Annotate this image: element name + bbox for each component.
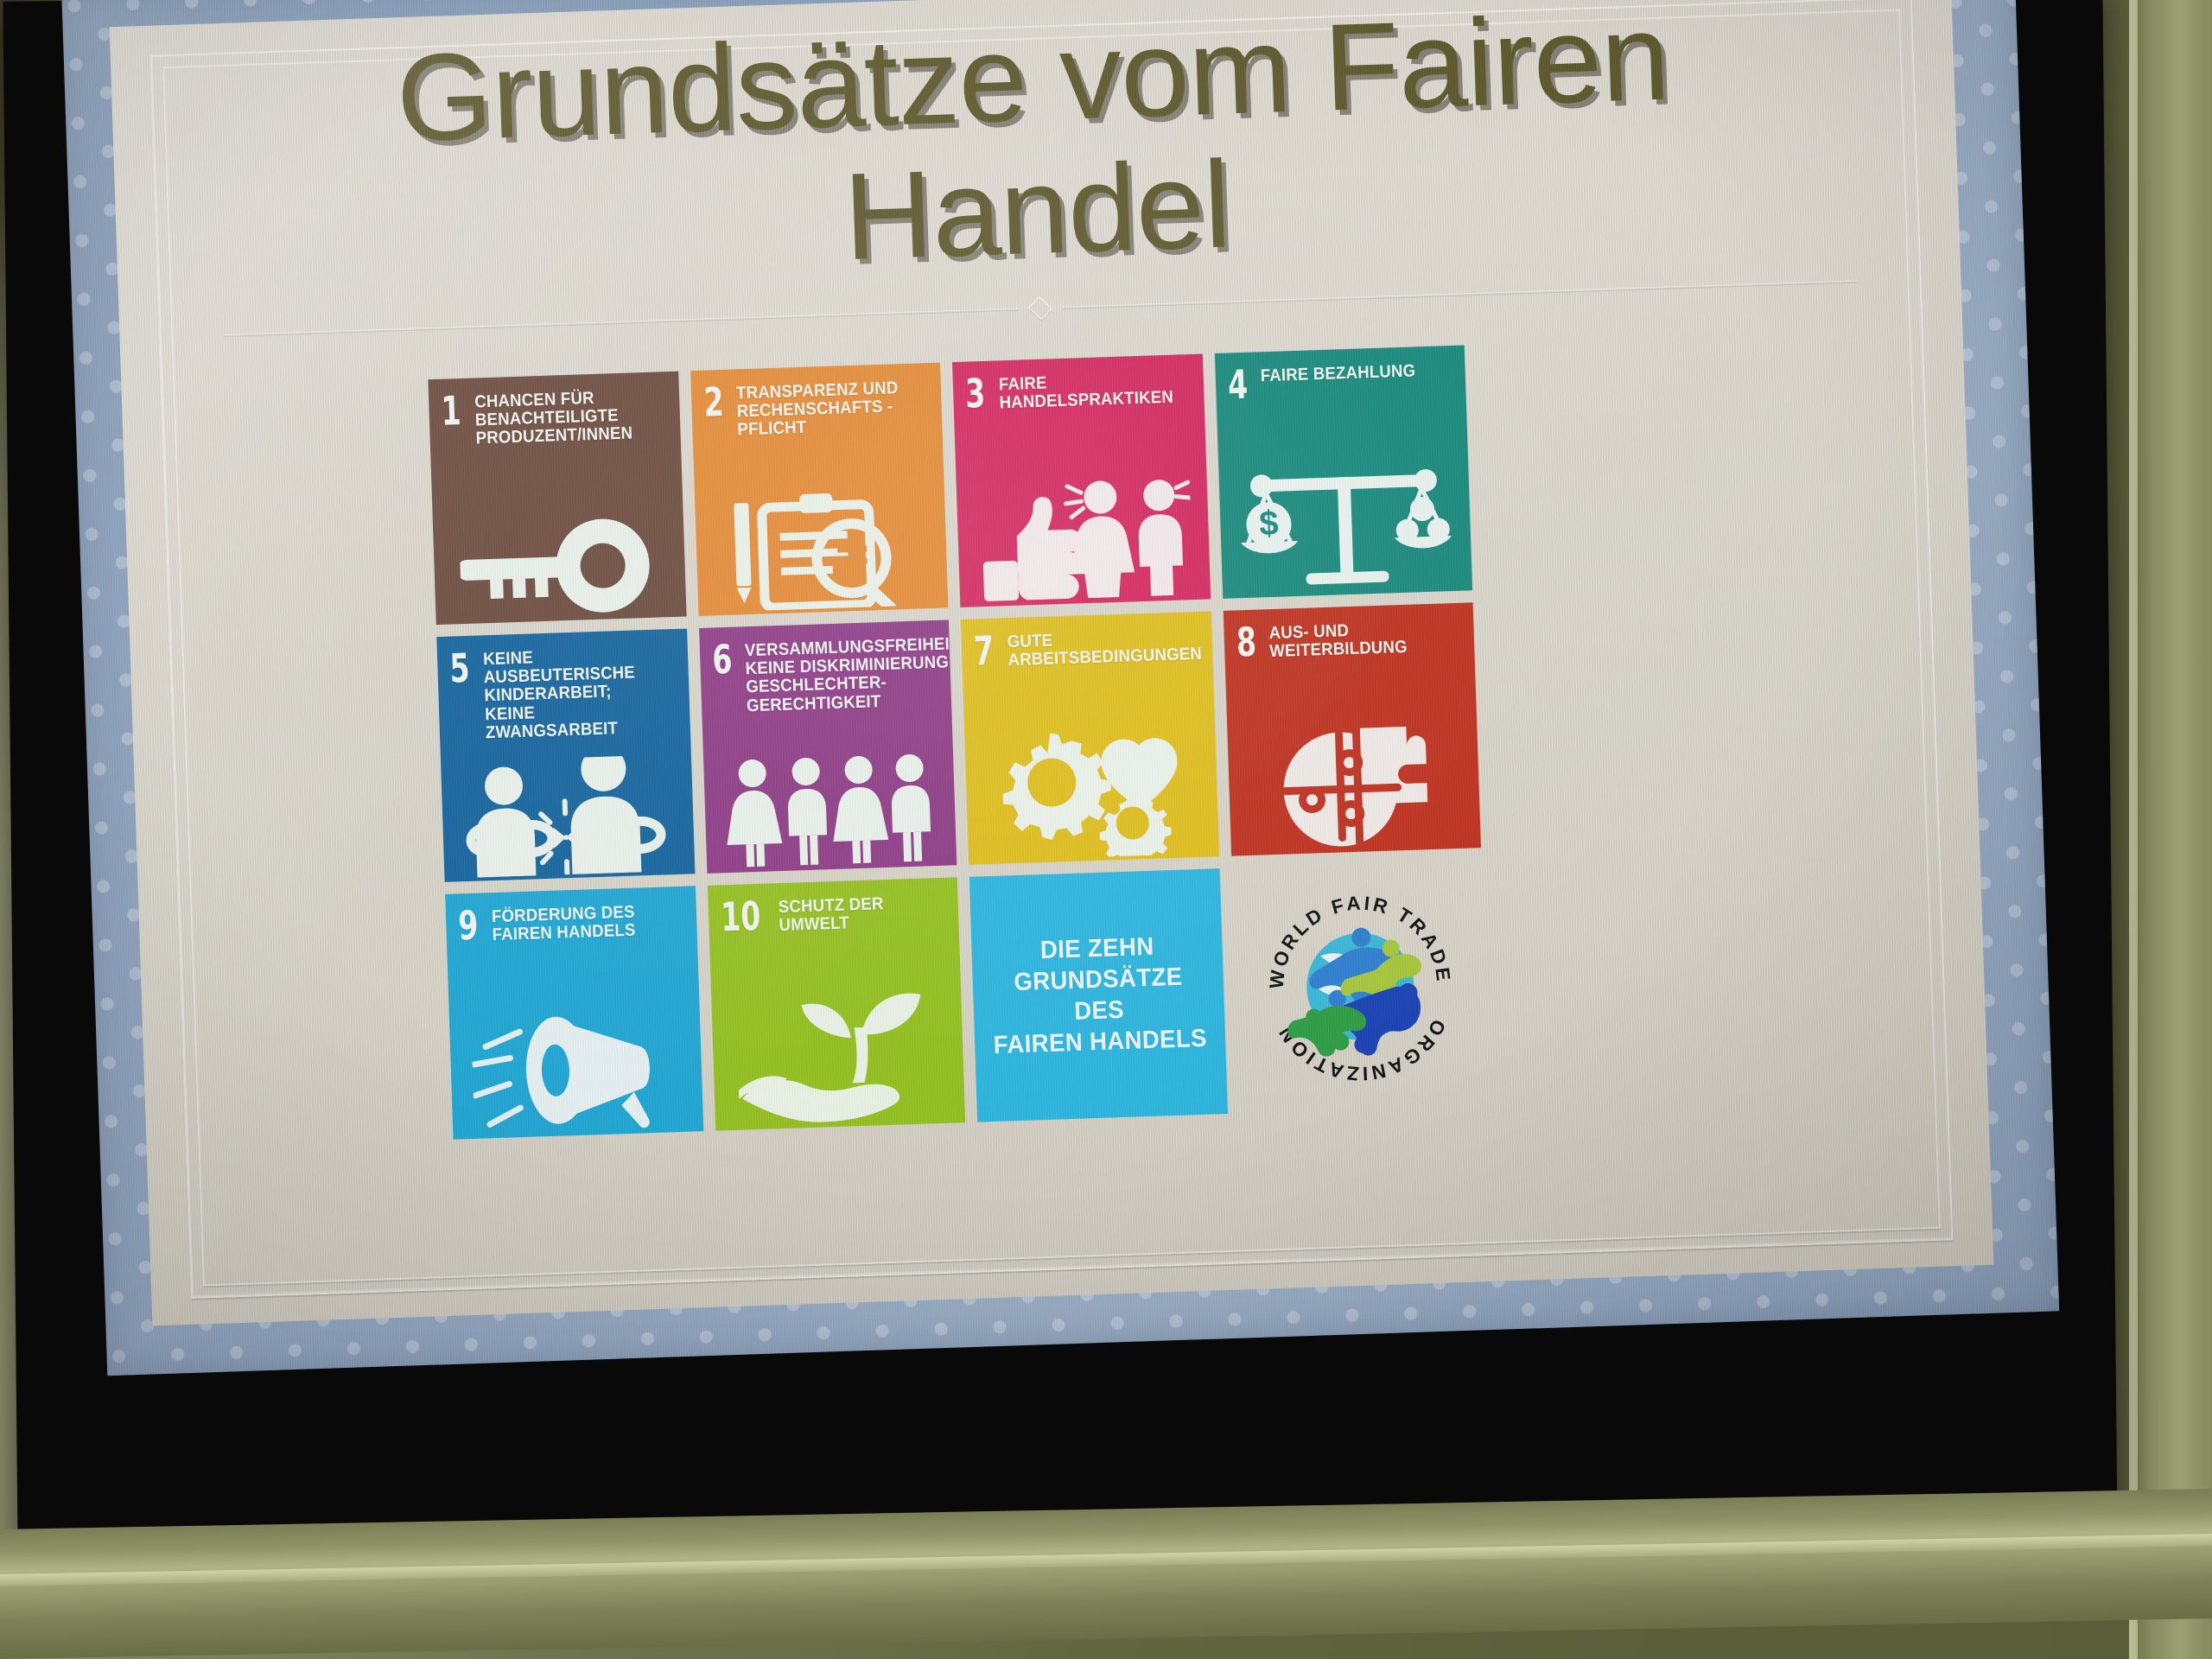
tile-header: 1 Chancen für benachteiligte Produzent/i…: [441, 385, 669, 449]
tile-title: Schutz der Umwelt: [779, 892, 936, 935]
tile-title: Transparenz und Rechenschafts - pflicht: [736, 378, 917, 440]
tile-number: 9: [458, 907, 479, 944]
tile-header: 5 Keine ausbeuterische Kinderarbeit; kei…: [449, 643, 678, 744]
tile-number: 3: [965, 375, 986, 412]
tile-number: 8: [1236, 624, 1256, 661]
principle-tile-10[interactable]: 10 Schutz der Umwelt: [707, 877, 965, 1130]
tile-title: Gute Arbeitsbedingungen: [1007, 626, 1202, 671]
caption-text: Die zehn Grundsätze des Fairen Handels: [989, 929, 1207, 1061]
wall-right-column: [2133, 0, 2212, 1659]
broken-chain-icon: [441, 741, 695, 879]
tile-number: 2: [702, 384, 723, 421]
megaphone-icon: [448, 998, 702, 1136]
svg-text:$: $: [1259, 505, 1280, 543]
tile-title: Aus- und Weiterbildung: [1269, 617, 1449, 661]
principle-tile-3[interactable]: 3 Faire Handelspraktiken: [952, 354, 1211, 607]
principle-tile-1[interactable]: 1 Chancen für benachteiligte Produzent/i…: [428, 372, 686, 625]
principles-grid: 1 Chancen für benachteiligte Produzent/i…: [428, 345, 1490, 1139]
balance-scale-icon: $: [1218, 457, 1472, 595]
tile-number: 1: [441, 392, 461, 429]
principle-tile-5[interactable]: 5 Keine ausbeuterische Kinderarbeit; kei…: [436, 628, 695, 881]
caption-tile: Die zehn Grundsätze des Fairen Handels: [969, 868, 1228, 1122]
tile-header: 10 Schutz der Umwelt: [720, 892, 947, 938]
principle-tile-2[interactable]: 2 Transparenz und Rechenschafts - pflich…: [690, 363, 949, 616]
tile-number: 6: [711, 641, 732, 678]
tile-header: 8 Aus- und Weiterbildung: [1236, 617, 1463, 663]
clipboard-magnifier-icon: [694, 475, 948, 613]
thumbs-up-people-icon: [956, 466, 1210, 604]
tile-header: 9 Förderung des Fairen Handels: [458, 900, 685, 946]
key-icon: [432, 484, 686, 622]
tile-title: Chancen für benachteiligte Produzent/inn…: [474, 386, 655, 448]
tile-title: Versammlungsfreiheit; keine Diskriminier…: [745, 633, 957, 715]
puzzle-circle-icon: [1227, 715, 1481, 853]
logo-globe: [1285, 926, 1425, 1058]
divider-diamond: [1028, 296, 1053, 320]
principle-tile-9[interactable]: 9 Förderung des Fairen Handels: [445, 886, 703, 1139]
hand-plant-icon: [711, 989, 965, 1128]
slide-surface: Grundsätze vom Fairen Handel 1 Chancen f…: [61, 0, 2059, 1376]
tile-number: 5: [449, 650, 470, 687]
projection-screen-frame: Grundsätze vom Fairen Handel 1 Chancen f…: [3, 0, 2117, 1557]
tile-header: 7 Gute Arbeitsbedingungen: [973, 626, 1200, 671]
wall-right-highlight: [2129, 0, 2138, 1659]
principle-tile-8[interactable]: 8 Aus- und Weiterbildung: [1223, 602, 1481, 855]
gears-heart-icon: [964, 723, 1218, 861]
principle-tile-7[interactable]: 7 Gute Arbeitsbedingungen: [961, 611, 1219, 864]
slide-canvas: Grundsätze vom Fairen Handel 1 Chancen f…: [110, 0, 1994, 1325]
tile-number: 10: [720, 898, 760, 936]
caption-line-4: Fairen Handels: [993, 1023, 1207, 1061]
tile-number: 7: [973, 632, 994, 670]
tile-title: Förderung des Fairen Handels: [491, 900, 671, 944]
principle-tile-6[interactable]: 6 Versammlungsfreiheit; keine Diskrimini…: [699, 620, 957, 873]
tile-header: 2 Transparenz und Rechenschafts - pflich…: [702, 377, 931, 441]
tile-header: 4 Faire Bezahlung: [1227, 359, 1454, 404]
tile-number: 4: [1227, 366, 1248, 404]
principle-tile-4[interactable]: 4 Faire Bezahlung: [1214, 345, 1472, 598]
tile-title: Faire Handelspraktiken: [998, 368, 1178, 412]
wfto-logo: WORLD FAIR TRADE ORGANIZATION: [1231, 860, 1490, 1113]
tile-title: Keine ausbeuterische Kinderarbeit; keine…: [483, 643, 665, 742]
tile-header: 6 Versammlungsfreiheit; keine Diskrimini…: [711, 634, 939, 716]
tile-title: Faire Bezahlung: [1261, 360, 1416, 385]
slide-outer-border: Grundsätze vom Fairen Handel 1 Chancen f…: [61, 0, 2059, 1376]
tile-header: 3 Faire Handelspraktiken: [965, 368, 1192, 414]
four-people-icon: [702, 732, 957, 870]
